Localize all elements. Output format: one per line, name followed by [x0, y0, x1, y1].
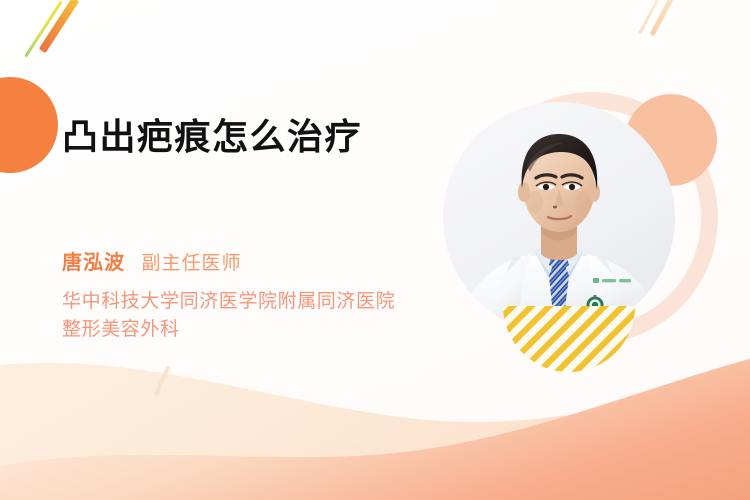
peach-diagonal-stripe-c — [154, 366, 171, 397]
doctor-info-card: 凸出疤痕怎么治疗 唐泓波 副主任医师 华中科技大学同济医学院附属同济医院 整形美… — [0, 0, 750, 500]
peach-diagonal-stripe-a — [649, 0, 675, 36]
hospital-name: 华中科技大学同济医学院附属同济医院 — [62, 288, 395, 316]
salmon-wave — [0, 320, 750, 500]
doctor-title: 副主任医师 — [141, 253, 241, 274]
yellow-diagonal-stripe — [24, 1, 62, 58]
doctor-affiliation: 华中科技大学同济医学院附属同济医院 整形美容外科 — [62, 288, 395, 343]
page-title: 凸出疤痕怎么治疗 — [62, 116, 362, 157]
doctor-name: 唐泓波 — [62, 252, 125, 274]
hospital-department: 整形美容外科 — [62, 316, 395, 344]
doctor-portrait — [443, 102, 675, 334]
peach-diagonal-stripe-b — [638, 0, 660, 34]
solid-orange-circle — [0, 77, 58, 173]
doctor-name-row: 唐泓波 副主任医师 — [62, 251, 241, 276]
orange-diagonal-stripe — [39, 0, 79, 53]
